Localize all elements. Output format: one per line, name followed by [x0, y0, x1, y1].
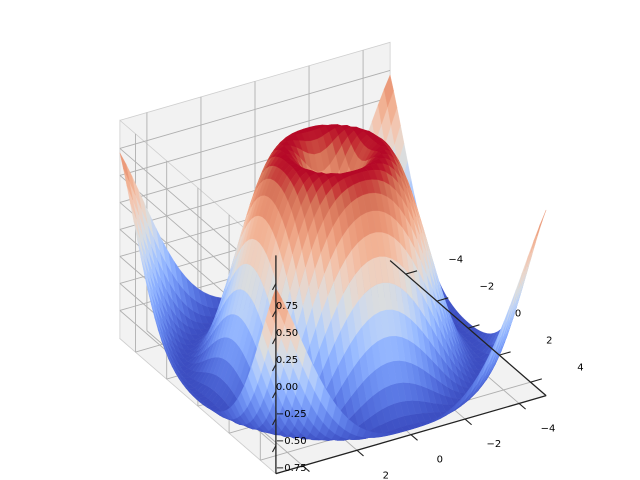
tick-mark-y — [519, 403, 526, 409]
tick-label-z-1: −0.50 — [276, 436, 307, 447]
tick-label-x-2: 0 — [515, 309, 521, 320]
tick-label-x-4: 4 — [577, 363, 583, 374]
surface-facet — [525, 240, 534, 271]
tick-label-z-5: 0.50 — [276, 328, 298, 339]
tick-label-y-0: −4 — [541, 423, 556, 434]
tick-mark-x — [531, 379, 542, 382]
tick-mark-x — [499, 352, 510, 355]
tick-mark-y — [465, 419, 472, 425]
tick-label-x-1: −2 — [480, 282, 495, 293]
tick-label-y-1: −2 — [487, 439, 502, 450]
tick-label-x-0: −4 — [448, 255, 463, 266]
tick-label-y-2: 0 — [437, 455, 443, 466]
tick-label-z-2: −0.25 — [276, 409, 307, 420]
tick-label-x-3: 2 — [546, 336, 552, 347]
matplotlib-figure: −4−2024−4−2024−0.75−0.50−0.250.000.250.5… — [0, 0, 640, 480]
surface-facet — [537, 210, 546, 236]
tick-label-y-3: 2 — [383, 470, 389, 480]
axes-3d[interactable]: −4−2024−4−2024−0.75−0.50−0.250.000.250.5… — [0, 0, 640, 480]
tick-mark-y — [357, 450, 364, 456]
surface-facet — [521, 253, 530, 285]
tick-label-z-0: −0.75 — [276, 463, 307, 474]
tick-label-z-4: 0.25 — [276, 355, 298, 366]
tick-mark-y — [411, 435, 418, 441]
surface-facet — [515, 271, 524, 304]
tick-label-z-6: 0.75 — [276, 301, 298, 312]
tick-label-z-3: 0.00 — [276, 382, 298, 393]
